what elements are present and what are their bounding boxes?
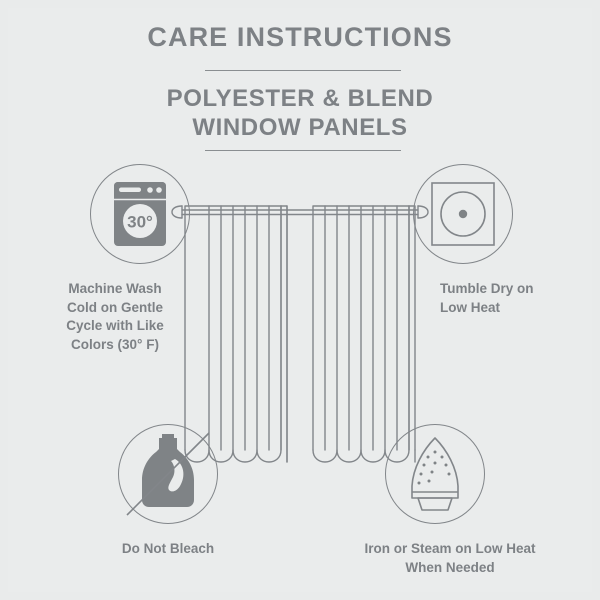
subtitle-line-1: POLYESTER & BLEND [0,84,600,114]
caption-do-not-bleach: Do Not Bleach [73,540,263,559]
tumble-dry-icon [413,164,513,264]
wash-temperature-label: 30° [127,213,153,232]
divider-top [205,70,401,71]
iron-icon [385,424,485,524]
subtitle-line-2: WINDOW PANELS [0,113,600,143]
caption-machine-wash: Machine Wash Cold on Gentle Cycle with L… [40,280,190,354]
care-instructions-infographic: CARE INSTRUCTIONS POLYESTER & BLEND WIND… [0,0,600,600]
tumble-dry-heat-dot [459,210,467,218]
curtain-rod [182,210,418,215]
do-not-bleach-icon [118,424,218,524]
bleach-bottle-shape [142,434,194,507]
page-title: CARE INSTRUCTIONS [0,22,600,53]
washing-machine-icon: 30° [90,164,190,264]
caption-iron: Iron or Steam on Low Heat When Needed [330,540,570,577]
divider-bottom [205,150,401,151]
caption-tumble-dry: Tumble Dry on Low Heat [440,280,590,317]
